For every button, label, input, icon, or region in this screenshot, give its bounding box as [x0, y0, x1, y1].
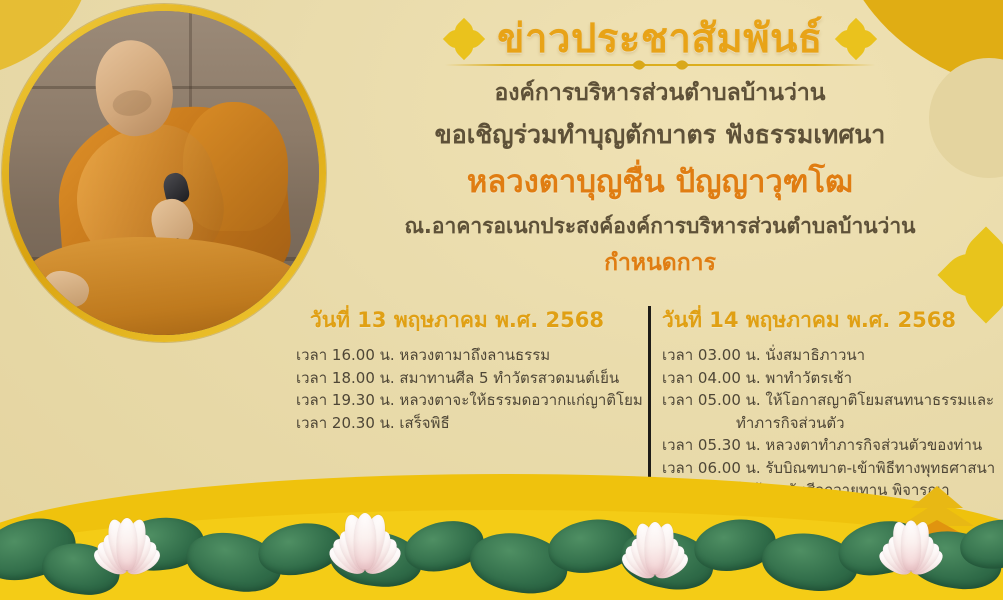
lotus-petal [901, 520, 920, 570]
lotus-petal [117, 518, 137, 570]
list-item: เวลา 20.30 น. เสร็จพิธี [296, 412, 624, 435]
flower-ornament-icon-left [447, 22, 481, 56]
title-row: ข่าวประชาสัมพันธ์ [330, 16, 990, 62]
lotus-petal [645, 522, 665, 574]
poster-header: ข่าวประชาสัมพันธ์ องค์การบริหารส่วนตำบลบ… [330, 16, 990, 279]
list-item: เวลา 05.00 น. ให้โอกาสญาติโยมสนทนาธรรมแล… [662, 389, 996, 412]
invitation-line: ขอเชิญร่วมทำบุญตักบาตร ฟังธรรมเทศนา [330, 118, 990, 152]
list-item: เวลา 18.00 น. สมาทานศีล 5 ทำวัตรสวดมนต์เ… [296, 367, 624, 390]
lotus-flower [306, 483, 425, 569]
day2-date: วันที่ 14 พฤษภาคม พ.ศ. 2568 [662, 304, 996, 337]
lotus-flower [72, 490, 182, 570]
list-item-continuation: ทำภารกิจส่วนตัว [662, 412, 996, 435]
page-title: ข่าวประชาสัมพันธ์ [497, 16, 823, 62]
organization-name: องค์การบริหารส่วนตำบลบ้านว่าน [330, 78, 990, 109]
list-item: เวลา 03.00 น. นั่งสมาธิภาวนา [662, 344, 996, 367]
title-underline-ornament [445, 64, 875, 66]
monk-name: หลวงตาบุญชื่น ปัญญาวุฑโฒ [330, 162, 990, 202]
monk-portrait [2, 4, 326, 342]
day1-date: วันที่ 13 พฤษภาคม พ.ศ. 2568 [310, 304, 624, 337]
portrait-photo-clip [9, 11, 319, 335]
venue-line: ณ.อาคารอเนกประสงค์องค์การบริหารส่วนตำบลบ… [330, 212, 990, 240]
list-item: เวลา 05.30 น. หลวงตาทำภารกิจส่วนตัวของท่… [662, 434, 996, 457]
event-poster: ข่าวประชาสัมพันธ์ องค์การบริหารส่วนตำบลบ… [0, 0, 1003, 600]
lotus-decoration-row [0, 480, 1003, 600]
list-item: เวลา 06.00 น. รับบิณฑบาต-เข้าพิธีทางพุทธ… [662, 457, 996, 480]
schedule-heading: กำหนดการ [330, 249, 990, 279]
list-item: เวลา 19.30 น. หลวงตาจะให้ธรรมดอวากแก่ญาต… [296, 389, 624, 412]
list-item: เวลา 16.00 น. หลวงตามาถึงลานธรรม [296, 344, 624, 367]
lotus-flower [858, 494, 964, 571]
lotus-petal [354, 513, 376, 569]
flower-ornament-icon-right [839, 22, 873, 56]
lotus-flower [600, 494, 710, 574]
list-item: เวลา 04.00 น. พาทำวัตรเช้า [662, 367, 996, 390]
day1-schedule-list: เวลา 16.00 น. หลวงตามาถึงลานธรรม เวลา 18… [296, 344, 624, 434]
